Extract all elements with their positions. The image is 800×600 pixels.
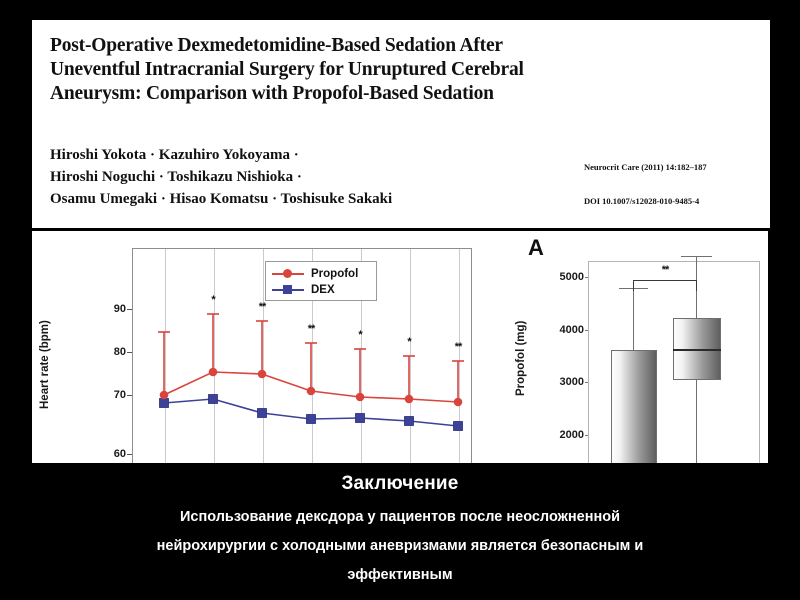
- slide-canvas: Post-Operative Dexmedetomidine-Based Sed…: [0, 0, 800, 600]
- box-body: [611, 350, 657, 466]
- page-title: Post-Operative Dexmedetomidine-Based Sed…: [50, 34, 550, 106]
- y-tick-5000: 5000: [528, 271, 584, 283]
- dex-legend-swatch: [272, 289, 304, 291]
- conclusion-line-1: Использование дексдора у пациентов после…: [52, 503, 748, 532]
- propofol-dose-chart: A Propofol (mg) 5000 4000 3000 2000: [510, 231, 768, 465]
- y-tick-80: 80: [60, 346, 126, 358]
- significance-marker: **: [308, 324, 315, 335]
- doi-text: DOI 10.1007/s12028-010-9485-4: [584, 196, 784, 206]
- paper-title-line-3: Aneurysm: Comparison with Propofol-Based…: [50, 82, 550, 106]
- heart-rate-y-axis-label: Heart rate (bpm): [38, 305, 52, 425]
- y-tick-70: 70: [60, 389, 126, 401]
- journal-citation: Neurocrit Care (2011) 14:182–187: [584, 162, 784, 172]
- legend-item-dex: DEX: [272, 282, 376, 298]
- conclusion-heading: Заключение: [0, 463, 800, 495]
- author-list: Hiroshi Yokota · Kazuhiro Yokoyama · Hir…: [50, 144, 570, 210]
- significance-marker: *: [407, 337, 410, 348]
- paper-title-line-1: Post-Operative Dexmedetomidine-Based Sed…: [50, 34, 550, 58]
- significance-marker: *: [211, 295, 214, 306]
- significance-marker: **: [259, 302, 266, 313]
- heart-rate-y-axis-ticks: 90 80 70 60: [58, 231, 126, 465]
- whisker-cap: [681, 256, 712, 257]
- journal-reference: Neurocrit Care (2011) 14:182–187 DOI 10.…: [584, 162, 784, 206]
- heart-rate-legend: Propofol DEX: [265, 261, 377, 301]
- conclusion-body: Использование дексдора у пациентов после…: [0, 503, 800, 590]
- y-tick-2000: 2000: [528, 429, 584, 441]
- significance-marker: **: [662, 264, 669, 276]
- paper-title-line-2: Uneventful Intracranial Surgery for Unru…: [50, 58, 550, 82]
- propofol-plot-area: **: [588, 261, 760, 465]
- author-line-1: Hiroshi Yokota · Kazuhiro Yokoyama ·: [50, 144, 570, 166]
- legend-label-dex: DEX: [311, 284, 335, 296]
- median-line: [673, 349, 721, 351]
- figure-panel: Heart rate (bpm) 90 80 70 60: [32, 231, 768, 465]
- significance-marker: *: [358, 330, 361, 341]
- paper-header-panel: Post-Operative Dexmedetomidine-Based Sed…: [32, 20, 770, 228]
- heart-rate-chart: Heart rate (bpm) 90 80 70 60: [32, 231, 502, 465]
- y-tick-60: 60: [60, 448, 126, 460]
- conclusion-line-2: нейрохирургии с холодными аневризмами яв…: [52, 532, 748, 561]
- author-line-3: Osamu Umegaki · Hisao Komatsu · Toshisuk…: [50, 188, 570, 210]
- legend-label-propofol: Propofol: [311, 268, 358, 280]
- author-line-2: Hiroshi Noguchi · Toshikazu Nishioka ·: [50, 166, 570, 188]
- y-tick-3000: 3000: [528, 376, 584, 388]
- paper-title-text: Post-Operative Dexmedetomidine-Based Sed…: [50, 34, 550, 106]
- conclusion-overlay: Заключение Использование дексдора у паци…: [0, 463, 800, 600]
- conclusion-line-3: эффективным: [52, 561, 748, 590]
- significance-marker: **: [455, 342, 462, 353]
- y-tick-4000: 4000: [528, 324, 584, 336]
- propofol-y-axis-ticks: 5000 4000 3000 2000: [526, 231, 584, 465]
- y-tick-90: 90: [60, 303, 126, 315]
- significance-bracket: [633, 280, 697, 291]
- whisker-line: [633, 288, 634, 350]
- propofol-legend-swatch: [272, 273, 304, 275]
- legend-item-propofol: Propofol: [272, 266, 376, 282]
